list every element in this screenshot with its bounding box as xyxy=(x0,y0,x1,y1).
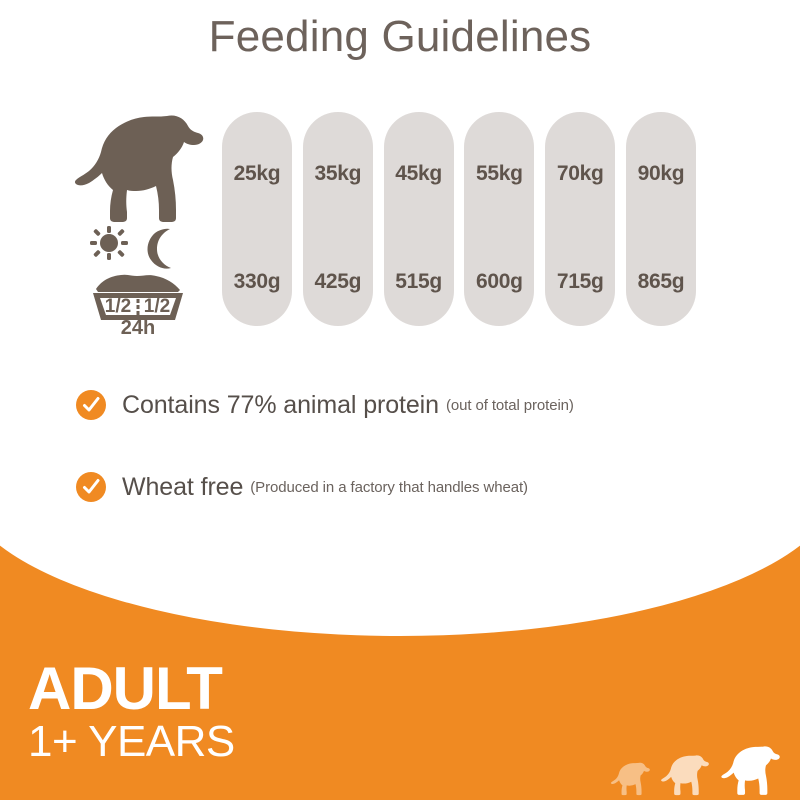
feeding-column: 25kg 330g xyxy=(222,112,292,326)
life-stage-title: ADULT xyxy=(28,660,235,717)
benefit-text: Contains 77% animal protein xyxy=(122,391,439,420)
dog-weight-label: 45kg xyxy=(384,162,454,186)
food-amount-label: 865g xyxy=(626,270,696,294)
dog-weight-label: 90kg xyxy=(626,162,696,186)
dog-weight-label: 35kg xyxy=(303,162,373,186)
dog-small-icon xyxy=(610,759,654,796)
benefit-item: Wheat free (Produced in a factory that h… xyxy=(76,460,756,514)
benefit-note: (out of total protein) xyxy=(446,397,574,414)
feeding-column: 90kg 865g xyxy=(626,112,696,326)
feeding-column: 55kg 600g xyxy=(464,112,534,326)
portion-day-label: 1/2 xyxy=(105,296,131,317)
life-stage-subtitle: 1+ YEARS xyxy=(28,719,235,765)
sitting-dog-icon xyxy=(72,104,217,224)
food-amount-label: 715g xyxy=(545,270,615,294)
feeding-frequency-icon: 1/2 1/2 24h xyxy=(78,226,200,334)
benefit-note: (Produced in a factory that handles whea… xyxy=(250,479,528,496)
banner-text-group: ADULT 1+ YEARS xyxy=(28,660,235,765)
moon-icon xyxy=(148,229,171,269)
portion-night-label: 1/2 xyxy=(144,296,170,317)
feeding-column: 70kg 715g xyxy=(545,112,615,326)
feeding-column: 45kg 515g xyxy=(384,112,454,326)
benefit-text: Wheat free xyxy=(122,473,243,502)
dog-weight-label: 25kg xyxy=(222,162,292,186)
period-label: 24h xyxy=(121,317,155,334)
feeding-capsule-row: 25kg 330g 35kg 425g 45kg 515g 55kg 600g … xyxy=(222,112,696,326)
feeding-guidelines-panel: Feeding Guidelines xyxy=(0,0,800,800)
benefit-item: Contains 77% animal protein (out of tota… xyxy=(76,378,756,432)
food-amount-label: 330g xyxy=(222,270,292,294)
page-title: Feeding Guidelines xyxy=(0,12,800,62)
food-amount-label: 425g xyxy=(303,270,373,294)
dog-large-icon xyxy=(720,741,786,796)
dog-weight-label: 70kg xyxy=(545,162,615,186)
dog-medium-icon xyxy=(660,751,714,796)
feeding-column: 35kg 425g xyxy=(303,112,373,326)
food-amount-label: 600g xyxy=(464,270,534,294)
check-circle-icon xyxy=(76,390,106,420)
life-stage-banner: ADULT 1+ YEARS xyxy=(0,540,800,800)
sun-icon xyxy=(90,226,128,260)
check-circle-icon xyxy=(76,472,106,502)
dog-weight-label: 55kg xyxy=(464,162,534,186)
three-dogs-icon xyxy=(610,741,786,796)
food-amount-label: 515g xyxy=(384,270,454,294)
